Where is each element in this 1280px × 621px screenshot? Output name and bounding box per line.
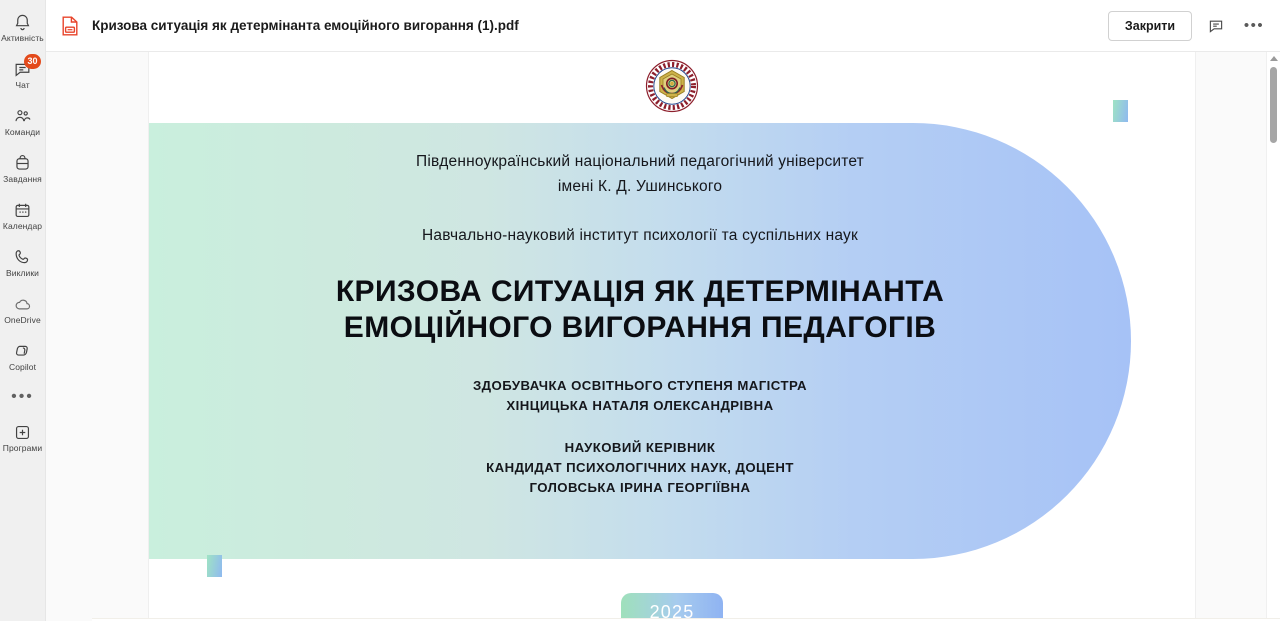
sidebar-item-calendar[interactable]: Календар bbox=[0, 192, 46, 239]
cloud-icon bbox=[13, 294, 33, 314]
calls-icon bbox=[13, 247, 33, 267]
sidebar-item-chat[interactable]: 30 Чат bbox=[0, 51, 46, 98]
bell-icon bbox=[13, 12, 33, 32]
university-name-line-2: імені К. Д. Ушинського bbox=[558, 174, 722, 199]
institute-name: Навчально-науковий інститут психології т… bbox=[422, 224, 858, 248]
author-name: ХІНЦИЦЬКА НАТАЛЯ ОЛЕКСАНДРІВНА bbox=[473, 396, 807, 416]
assignments-icon bbox=[13, 153, 33, 173]
close-button[interactable]: Закрити bbox=[1108, 11, 1192, 41]
scroll-up-arrow-icon[interactable] bbox=[1267, 52, 1280, 65]
sidebar-item-onedrive[interactable]: OneDrive bbox=[0, 286, 46, 333]
supervisor-degree: КАНДИДАТ ПСИХОЛОГІЧНИХ НАУК, ДОЦЕНТ bbox=[486, 458, 794, 478]
scrollbar-thumb[interactable] bbox=[1270, 67, 1277, 143]
chat-unread-badge: 30 bbox=[24, 54, 40, 69]
sidebar-item-label: Виклики bbox=[6, 268, 39, 278]
university-name-line-1: Південноукраїнський національний педагог… bbox=[416, 149, 864, 174]
plus-box-icon bbox=[13, 422, 33, 442]
pdf-viewer-inner: Південноукраїнський національний педагог… bbox=[46, 52, 1280, 621]
sidebar-item-label: Copilot bbox=[9, 362, 36, 372]
pdf-page: Південноукраїнський національний педагог… bbox=[149, 52, 1195, 621]
sidebar-item-activity[interactable]: Активність bbox=[0, 4, 46, 51]
rail-more-button[interactable]: ••• bbox=[0, 380, 46, 414]
supervisor-name: ГОЛОВСЬКА ІРИНА ГЕОРГІЇВНА bbox=[486, 478, 794, 498]
more-options-icon[interactable]: ••• bbox=[1240, 12, 1268, 40]
university-emblem bbox=[644, 58, 700, 114]
sidebar-item-label: Активність bbox=[1, 33, 44, 43]
chat-icon: 30 bbox=[13, 59, 33, 79]
sidebar-item-label: Календар bbox=[3, 221, 42, 231]
toolbar-actions: Закрити ••• bbox=[1108, 11, 1268, 41]
sidebar-item-label: Завдання bbox=[3, 174, 42, 184]
sidebar-item-copilot[interactable]: Copilot bbox=[0, 333, 46, 380]
year-badge: 2025 bbox=[621, 593, 723, 621]
sidebar-item-label: Програми bbox=[3, 443, 42, 453]
comment-icon[interactable] bbox=[1202, 12, 1230, 40]
decorative-square-top bbox=[1113, 100, 1128, 122]
supervisor-role: НАУКОВИЙ КЕРІВНИК bbox=[486, 438, 794, 458]
sidebar-item-label: Команди bbox=[5, 127, 40, 137]
teams-app-window: Активність 30 Чат Команди bbox=[0, 0, 1280, 621]
teams-icon bbox=[13, 106, 33, 126]
presentation-title: КРИЗОВА СИТУАЦІЯ ЯК ДЕТЕРМІНАНТА ЕМОЦІЙН… bbox=[310, 274, 970, 346]
pdf-file-icon bbox=[60, 15, 80, 37]
supervisor-block: НАУКОВИЙ КЕРІВНИК КАНДИДАТ ПСИХОЛОГІЧНИХ… bbox=[486, 438, 794, 498]
sidebar-item-calls[interactable]: Виклики bbox=[0, 239, 46, 286]
sidebar-item-label: Чат bbox=[15, 80, 29, 90]
main-region: Кризова ситуація як детермінанта емоційн… bbox=[46, 0, 1280, 621]
sidebar-item-assignments[interactable]: Завдання bbox=[0, 145, 46, 192]
copilot-icon bbox=[13, 341, 33, 361]
calendar-icon bbox=[13, 200, 33, 220]
document-toolbar: Кризова ситуація як детермінанта емоційн… bbox=[46, 0, 1280, 52]
sidebar-item-apps[interactable]: Програми bbox=[0, 414, 46, 461]
app-left-rail: Активність 30 Чат Команди bbox=[0, 0, 46, 621]
author-role: ЗДОБУВАЧКА ОСВІТНЬОГО СТУПЕНЯ МАГІСТРА bbox=[473, 376, 807, 396]
sidebar-item-label: OneDrive bbox=[4, 315, 41, 325]
document-title: Кризова ситуація як детермінанта емоційн… bbox=[92, 18, 519, 33]
vertical-scrollbar[interactable] bbox=[1266, 52, 1280, 621]
sidebar-item-teams[interactable]: Команди bbox=[0, 98, 46, 145]
pdf-viewer[interactable]: Південноукраїнський національний педагог… bbox=[46, 52, 1280, 621]
author-block: ЗДОБУВАЧКА ОСВІТНЬОГО СТУПЕНЯ МАГІСТРА Х… bbox=[473, 376, 807, 416]
slide-text-block: Південноукраїнський національний педагог… bbox=[149, 123, 1131, 559]
